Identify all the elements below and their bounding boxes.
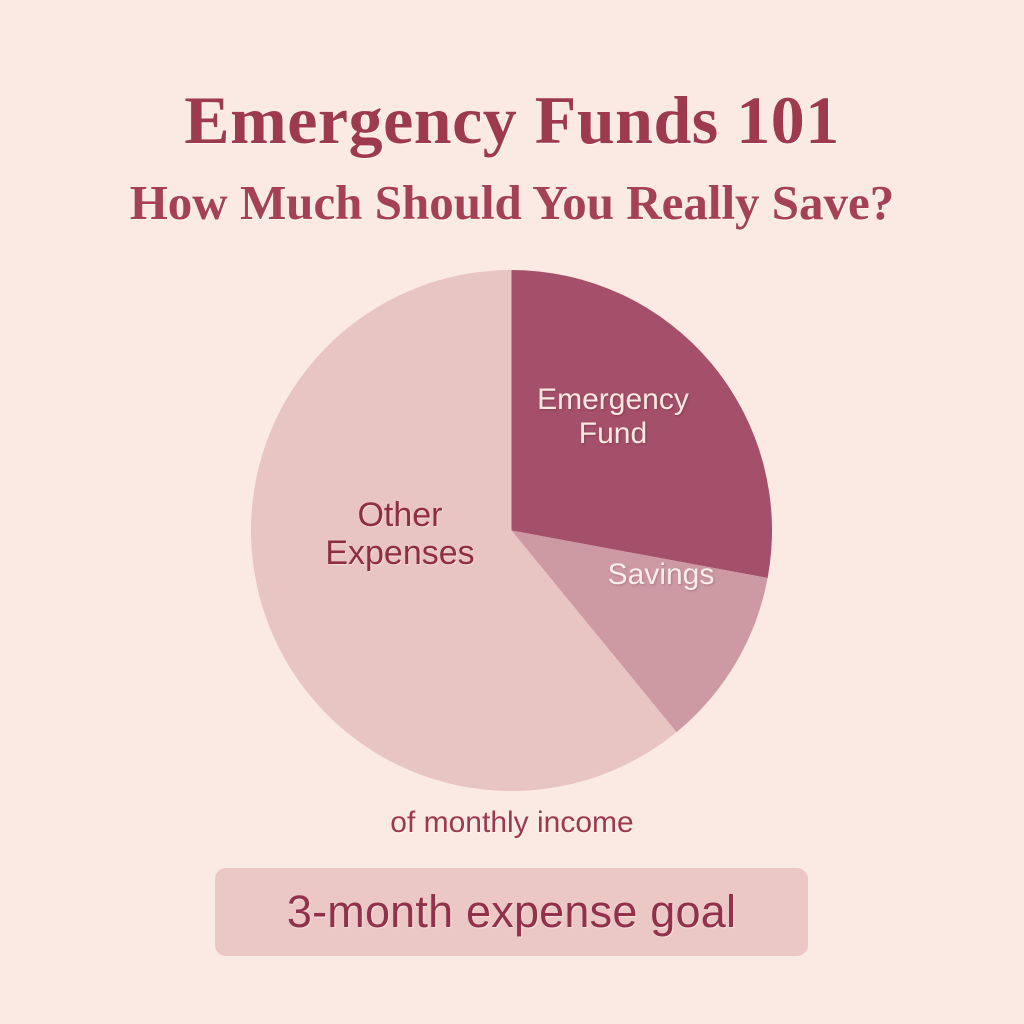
goal-banner-label: 3-month expense goal: [287, 886, 736, 938]
page-title: Emergency Funds 101: [0, 86, 1024, 154]
pie-chart: Emergency Fund Savings Other Expenses: [251, 270, 772, 791]
chart-caption: of monthly income: [0, 806, 1024, 840]
header-block: Emergency Funds 101 How Much Should You …: [0, 86, 1024, 227]
page-subtitle: How Much Should You Really Save?: [0, 178, 1024, 227]
pie-slice-emergency-fund: [512, 270, 773, 578]
infographic-canvas: Emergency Funds 101 How Much Should You …: [0, 0, 1024, 1024]
pie-chart-svg: [251, 270, 772, 791]
goal-banner: 3-month expense goal: [215, 868, 808, 956]
